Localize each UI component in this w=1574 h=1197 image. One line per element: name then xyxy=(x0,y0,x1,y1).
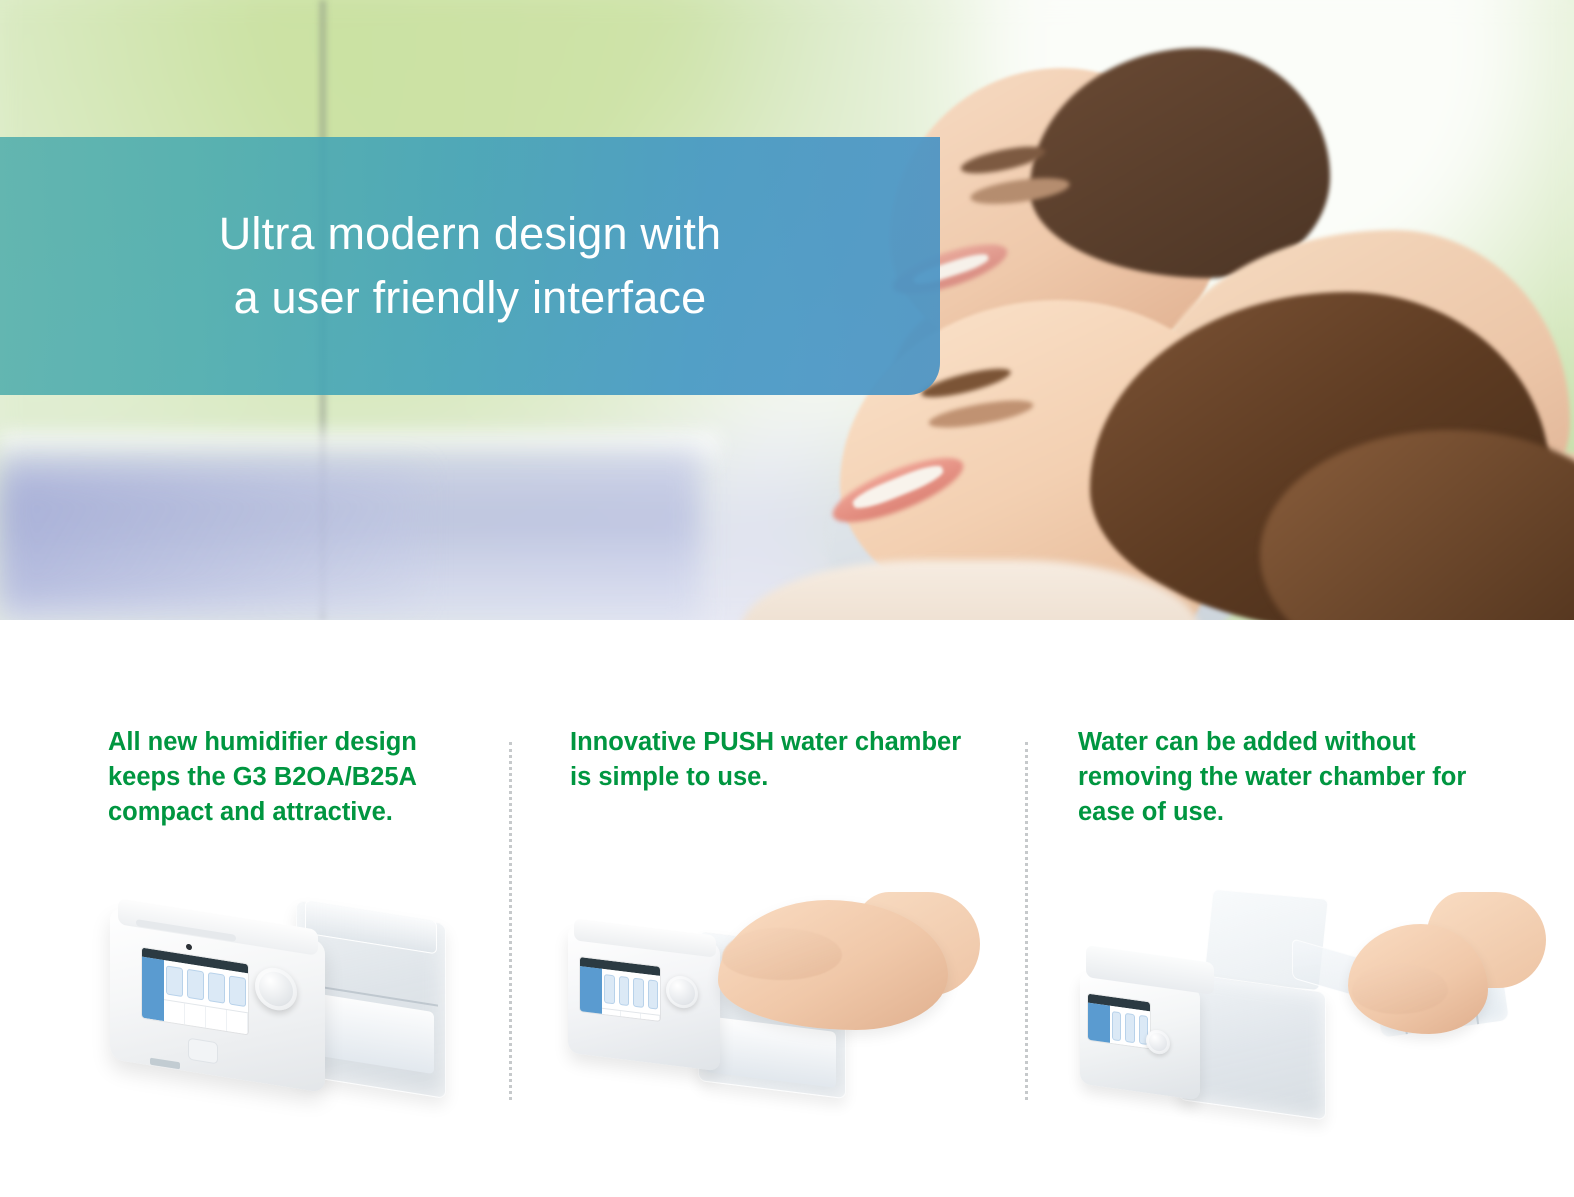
cpap-lcd-screen-3 xyxy=(1088,994,1150,1049)
feature-column-3: Water can be added without removing the … xyxy=(1078,725,1498,830)
lcd-humidity-icon xyxy=(1125,1013,1134,1043)
push-hand-fingers xyxy=(722,928,842,980)
lcd-main-panel xyxy=(1110,1006,1150,1049)
pour-hand-knuckles xyxy=(1352,964,1448,1014)
product-image-3 xyxy=(1060,872,1500,1112)
feature-text-2: Innovative PUSH water chamber is simple … xyxy=(570,725,970,795)
column-divider-1 xyxy=(509,742,512,1100)
lcd-humidity-icon xyxy=(187,969,204,1001)
lcd-humidity-icon xyxy=(619,976,630,1006)
hero-title-line-2: a user friendly interface xyxy=(234,266,707,330)
feature-column-1: All new humidifier design keeps the G3 B… xyxy=(108,725,480,830)
lcd-settings-icon xyxy=(229,975,246,1007)
lcd-mode-icon xyxy=(1112,1011,1121,1041)
lcd-sidebar xyxy=(142,957,164,1021)
lcd-icon-row xyxy=(1110,1006,1150,1049)
lcd-value-cell xyxy=(227,1010,248,1034)
lcd-value-cell xyxy=(164,1000,185,1024)
feature-text-3: Water can be added without removing the … xyxy=(1078,725,1498,830)
lcd-mode-icon xyxy=(604,974,615,1004)
lcd-settings-icon xyxy=(648,979,659,1009)
product-brochure-page: Ultra modern design with a user friendly… xyxy=(0,0,1574,1197)
lcd-ramp-icon xyxy=(208,972,225,1004)
product-image-1 xyxy=(100,882,470,1112)
column-divider-2 xyxy=(1025,742,1028,1100)
lcd-main-panel xyxy=(602,969,660,1021)
feature-text-1: All new humidifier design keeps the G3 B… xyxy=(108,725,480,830)
hero-floor-shadow xyxy=(0,470,420,610)
hero-banner: Ultra modern design with a user friendly… xyxy=(0,137,940,395)
cpap-home-button-1 xyxy=(188,1038,218,1065)
lcd-mode-icon xyxy=(166,965,183,997)
product-image-2 xyxy=(550,882,950,1112)
cpap-sensor-dot-1 xyxy=(186,944,192,951)
lcd-value-cell xyxy=(206,1007,227,1031)
cpap-lcd-screen-2 xyxy=(580,957,660,1021)
lcd-ramp-icon xyxy=(633,978,644,1008)
water-chamber-3 xyxy=(1178,972,1326,1121)
hero-section: Ultra modern design with a user friendly… xyxy=(0,0,1574,620)
lcd-main-panel xyxy=(164,960,248,1034)
features-section: All new humidifier design keeps the G3 B… xyxy=(0,620,1574,1197)
lcd-value-cell xyxy=(185,1003,206,1027)
feature-column-2: Innovative PUSH water chamber is simple … xyxy=(570,725,970,795)
hero-title-line-1: Ultra modern design with xyxy=(219,202,722,266)
